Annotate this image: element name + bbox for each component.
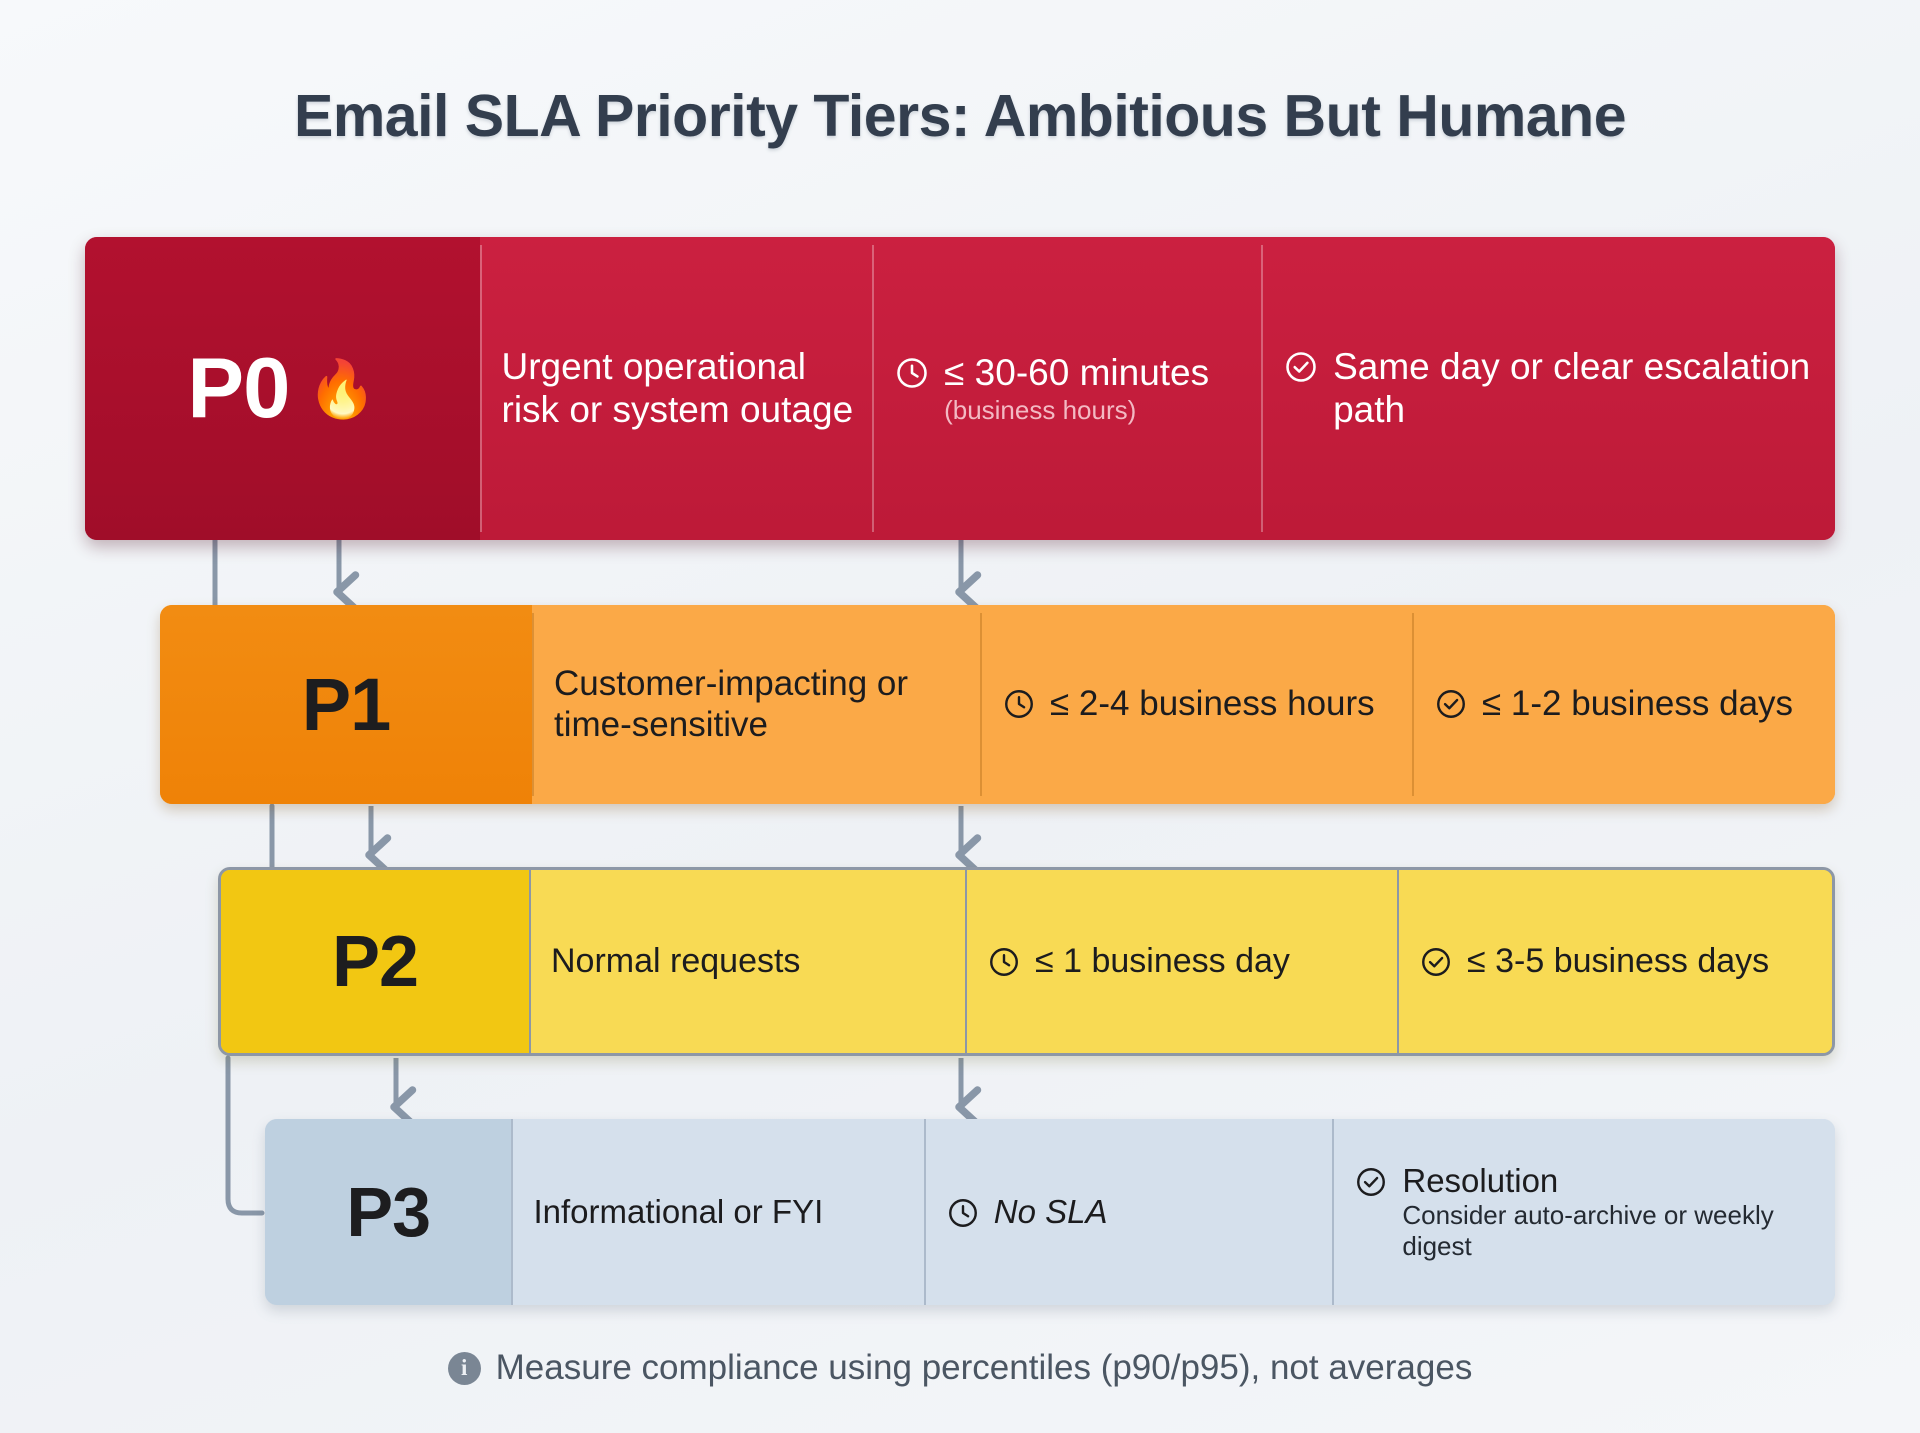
tier-row-p3[interactable]: P3 Informational or FYI No SLA [265,1119,1835,1305]
tier-row-p2[interactable]: P2 Normal requests ≤ 1 business day [218,867,1835,1056]
tier-label-p3: P3 [346,1177,430,1247]
clock-icon [987,945,1021,979]
tier-resolution-cell-p0: Same day or clear escalation path [1261,237,1835,540]
tier-response-p0: ≤ 30-60 minutes [944,352,1247,395]
tier-resolution-p0: Same day or clear escalation path [1333,346,1821,432]
tier-row-p0[interactable]: P0 🔥 Urgent operational risk or system o… [85,237,1835,540]
tier-resolution-cell-p1: ≤ 1-2 business days [1412,605,1835,804]
cell-divider [980,613,982,796]
check-circle-icon [1283,349,1319,385]
tier-label-cell-p2: P2 [221,870,529,1053]
tier-row-p1[interactable]: P1 Customer-impacting or time-sensitive … [160,605,1835,804]
tier-description-p0: Urgent operational risk or system outage [502,346,859,432]
check-circle-icon [1419,945,1453,979]
tier-resolution-cell-p2: ≤ 3-5 business days [1397,870,1832,1053]
check-circle-icon [1434,687,1468,721]
tier-description-p3: Informational or FYI [533,1193,909,1231]
tier-resolution-p1: ≤ 1-2 business days [1482,684,1821,725]
tier-label-cell-p1: P1 [160,605,532,804]
cell-divider [480,245,482,532]
tier-resolution-p2: ≤ 3-5 business days [1467,942,1818,981]
tier-description-p2: Normal requests [551,942,951,981]
infographic-canvas: Email SLA Priority Tiers: Ambitious But … [0,0,1920,1433]
tier-description-cell-p3: Informational or FYI [511,1119,923,1305]
cell-divider [965,870,967,1053]
clock-icon [894,355,930,391]
cell-divider [872,245,874,532]
tier-description-p1: Customer-impacting or time-sensitive [554,664,966,745]
tier-response-cell-p0: ≤ 30-60 minutes (business hours) [872,237,1261,540]
tier-response-cell-p3: No SLA [924,1119,1333,1305]
tier-response-cell-p1: ≤ 2-4 business hours [980,605,1412,804]
cell-divider [532,613,534,796]
tier-response-p2: ≤ 1 business day [1035,942,1383,981]
cell-divider [1397,870,1399,1053]
cell-divider [1332,1119,1334,1305]
cell-divider [529,870,531,1053]
clock-icon [1002,687,1036,721]
check-circle-icon [1354,1165,1388,1199]
cell-divider [1261,245,1263,532]
footer-note-text: Measure compliance using percentiles (p9… [496,1348,1473,1388]
tier-response-p3: No SLA [994,1193,1319,1231]
tier-response-note-p0: (business hours) [944,395,1247,426]
page-title: Email SLA Priority Tiers: Ambitious But … [0,82,1920,150]
cell-divider [924,1119,926,1305]
cell-divider [511,1119,513,1305]
tier-description-cell-p0: Urgent operational risk or system outage [480,237,873,540]
clock-icon [946,1196,980,1230]
tier-label-cell-p0: P0 🔥 [85,237,480,540]
tier-resolution-p3: Resolution [1402,1162,1821,1200]
tier-response-p1: ≤ 2-4 business hours [1050,684,1398,725]
fire-emoji: 🔥 [307,361,377,417]
tier-resolution-cell-p3: Resolution Consider auto-archive or week… [1332,1119,1835,1305]
tier-description-cell-p1: Customer-impacting or time-sensitive [532,605,980,804]
tier-label-p1: P1 [302,668,391,742]
tier-label-p2: P2 [332,926,418,998]
connector-p2-p3-elbow [228,1058,262,1213]
tier-label-p0: P0 [187,346,289,431]
info-circle-icon: i [448,1352,481,1385]
tier-description-cell-p2: Normal requests [529,870,965,1053]
footer-note: i Measure compliance using percentiles (… [0,1348,1920,1388]
tier-label-cell-p3: P3 [265,1119,511,1305]
tier-resolution-note-p3: Consider auto-archive or weekly digest [1402,1200,1821,1261]
tier-response-cell-p2: ≤ 1 business day [965,870,1397,1053]
cell-divider [1412,613,1414,796]
